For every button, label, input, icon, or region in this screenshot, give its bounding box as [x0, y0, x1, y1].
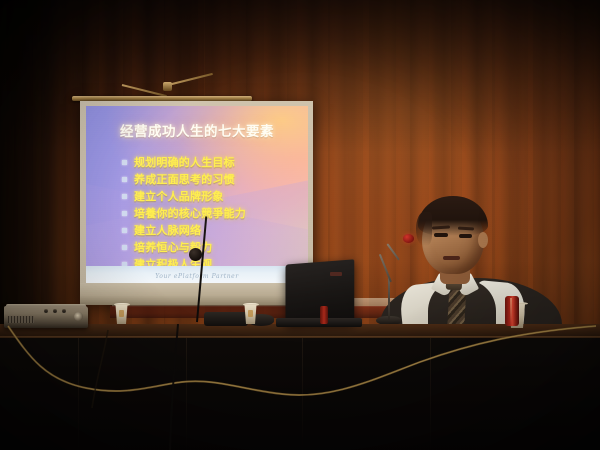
presenter-eye-left [434, 233, 448, 237]
red-container-highlight [510, 298, 512, 324]
presenter-ear [478, 232, 488, 248]
desk-red-object [320, 306, 328, 324]
cable-group [0, 324, 600, 450]
square-bullet-icon [122, 194, 127, 199]
red-container [505, 296, 519, 326]
laptop-logo [330, 272, 342, 276]
bullet-label: 培養你的核心競爭能力 [134, 205, 246, 221]
presenter-hair-side [416, 212, 432, 246]
slide-title: 经营成功人生的七大要素 [86, 120, 308, 140]
floor-microphone-icon [189, 248, 202, 261]
square-bullet-icon [122, 160, 127, 165]
presenter-mouth [443, 256, 460, 260]
square-bullet-icon [122, 228, 127, 233]
square-bullet-icon [122, 211, 127, 216]
presentation-photo: 经营成功人生的七大要素 规划明确的人生目标 养成正面思考的习惯 建立个人品牌形象… [0, 0, 600, 450]
list-item: 培养恒心与毅力 [122, 239, 298, 254]
bullet-label: 建立个人品牌形象 [134, 188, 224, 204]
list-item: 建立人脉网络 [122, 222, 298, 237]
microphone-icon [403, 234, 414, 243]
projector-button[interactable] [53, 309, 57, 313]
projector-vent [8, 316, 34, 323]
paper-cup-logo [119, 310, 124, 317]
projector-button[interactable] [62, 309, 66, 313]
projector-lens [74, 312, 83, 321]
bullet-label: 规划明确的人生目标 [134, 154, 235, 170]
screen-hanger-knob [163, 82, 172, 91]
list-item: 培養你的核心競爭能力 [122, 205, 298, 220]
square-bullet-icon [122, 245, 127, 250]
screen-bottom-bar [80, 283, 313, 305]
list-item: 规划明确的人生目标 [122, 154, 298, 169]
list-item: 养成正面思考的习惯 [122, 171, 298, 186]
list-item: 建立个人品牌形象 [122, 188, 298, 203]
mic-cable [170, 324, 178, 450]
projection-screen: 经营成功人生的七大要素 规划明确的人生目标 养成正面思考的习惯 建立个人品牌形象… [80, 101, 313, 305]
slide-bullet-list: 规划明确的人生目标 养成正面思考的习惯 建立个人品牌形象 培養你的核心競爭能力 … [122, 154, 298, 283]
square-bullet-icon [122, 177, 127, 182]
presenter-eye-right [459, 234, 472, 238]
paper-cup-logo [248, 310, 253, 317]
microphone-stem [388, 276, 390, 320]
projector-cable [92, 330, 108, 408]
bullet-label: 建立人脉网络 [134, 222, 201, 238]
bullet-label: 养成正面思考的习惯 [134, 171, 235, 187]
slide-footer-text: Your ePlatform Partner [86, 273, 308, 280]
projector-button[interactable] [44, 309, 48, 313]
